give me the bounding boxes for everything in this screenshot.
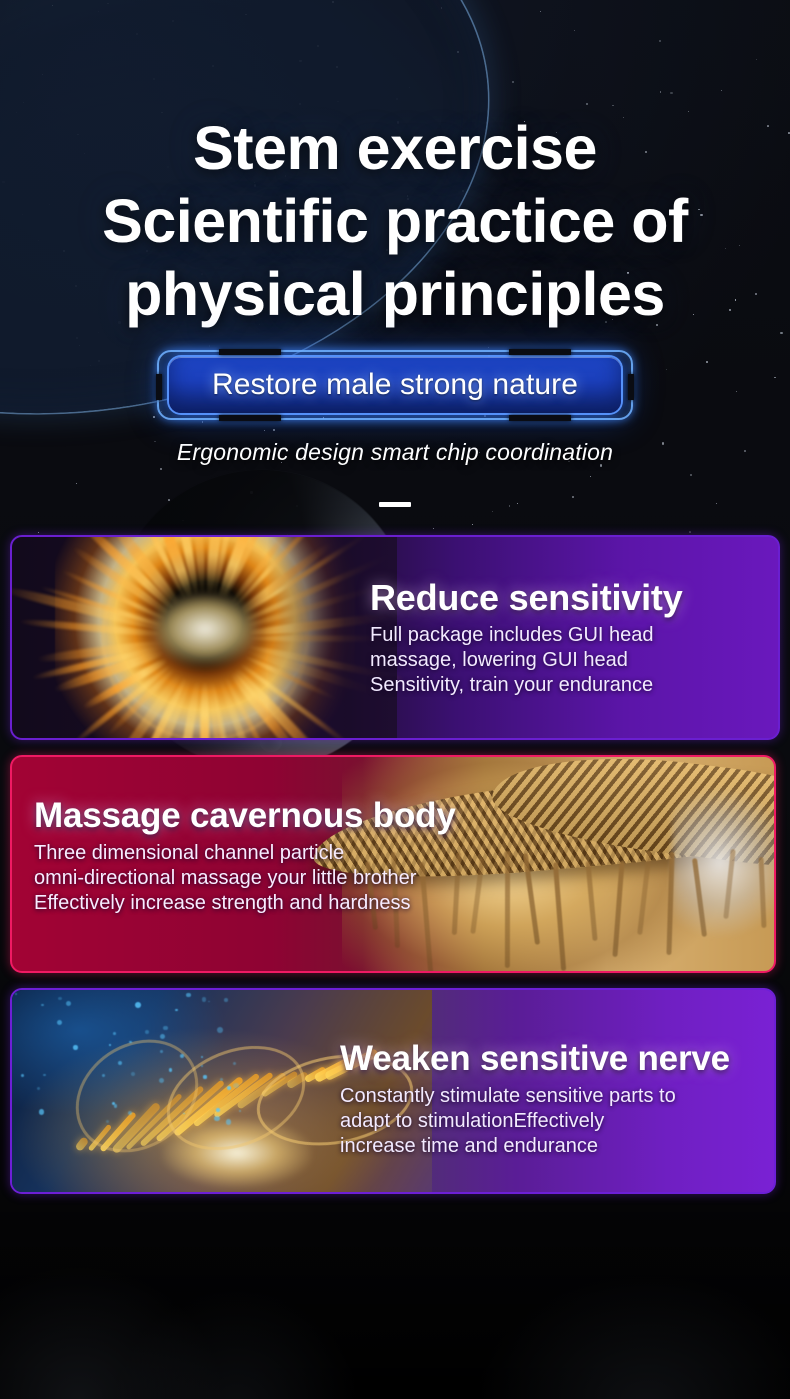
card-1-text: Reduce sensitivity Full package includes… bbox=[370, 577, 762, 698]
badge-container: Restore male strong nature bbox=[0, 357, 790, 413]
card-3-text: Weaken sensitive nerve Constantly stimul… bbox=[340, 1038, 760, 1159]
card-2-description: Three dimensional channel particle omni-… bbox=[34, 841, 504, 916]
card-3-desc-line-1: Constantly stimulate sensitive parts to bbox=[340, 1085, 676, 1107]
card-2-title: Massage cavernous body bbox=[34, 795, 504, 837]
promo-page: Stem exercise Scientific practice of phy… bbox=[0, 0, 790, 1399]
hero-section: Stem exercise Scientific practice of phy… bbox=[0, 0, 790, 507]
restore-nature-badge[interactable]: Restore male strong nature bbox=[169, 357, 621, 413]
card-1-desc-line-3: Sensitivity, train your endurance bbox=[370, 674, 653, 696]
headline-line-2: Scientific practice of bbox=[0, 185, 790, 258]
card-1-desc-line-2: massage, lowering GUI head bbox=[370, 649, 628, 671]
card-2-desc-line-3: Effectively increase strength and hardne… bbox=[34, 892, 411, 914]
card-3-desc-line-2: adapt to stimulationEffectively bbox=[340, 1110, 604, 1132]
feature-card-massage-cavernous-body[interactable]: Massage cavernous body Three dimensional… bbox=[10, 755, 776, 973]
badge-notch-bottom-left bbox=[219, 415, 281, 421]
card-1-title: Reduce sensitivity bbox=[370, 577, 762, 619]
card-3-title: Weaken sensitive nerve bbox=[340, 1038, 760, 1080]
headline-line-1: Stem exercise bbox=[0, 112, 790, 185]
card-2-desc-line-1: Three dimensional channel particle bbox=[34, 842, 344, 864]
terrain-foreground bbox=[0, 1189, 790, 1399]
headline-line-3: physical principles bbox=[0, 258, 790, 331]
card-3-description: Constantly stimulate sensitive parts to … bbox=[340, 1084, 760, 1159]
feature-card-reduce-sensitivity[interactable]: Reduce sensitivity Full package includes… bbox=[10, 535, 780, 740]
card-1-description: Full package includes GUI head massage, … bbox=[370, 623, 762, 698]
card-1-desc-line-1: Full package includes GUI head bbox=[370, 624, 654, 646]
feature-cards: Reduce sensitivity Full package includes… bbox=[0, 535, 790, 1194]
card-3-desc-line-3: increase time and endurance bbox=[340, 1135, 598, 1157]
badge-notch-top-right bbox=[509, 349, 571, 355]
feature-card-weaken-sensitive-nerve[interactable]: Weaken sensitive nerve Constantly stimul… bbox=[10, 988, 776, 1194]
badge-notch-top-left bbox=[219, 349, 281, 355]
badge-notch-left bbox=[156, 374, 162, 400]
section-divider bbox=[379, 502, 411, 507]
card-2-text: Massage cavernous body Three dimensional… bbox=[34, 795, 504, 916]
badge-label: Restore male strong nature bbox=[212, 368, 578, 402]
badge-notch-right bbox=[628, 374, 634, 400]
badge-notch-bottom-right bbox=[509, 415, 571, 421]
hero-tagline: Ergonomic design smart chip coordination bbox=[0, 439, 790, 466]
page-title: Stem exercise Scientific practice of phy… bbox=[0, 112, 790, 331]
card-2-desc-line-2: omni-directional massage your little bro… bbox=[34, 867, 416, 889]
